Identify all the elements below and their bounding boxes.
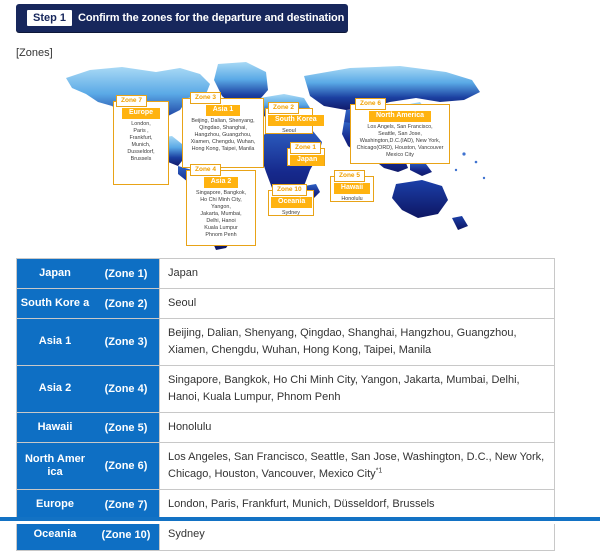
zone-cities-text: Seoul (168, 297, 196, 309)
zone-name-cell: South Kore a (17, 289, 94, 319)
zone-tab-7: Zone 7 (116, 95, 147, 107)
zone-cities-text: London, Paris, Frankfurt, Munich, Düssel… (168, 498, 435, 510)
zone-number-cell: (Zone 10) (93, 520, 160, 550)
zone-cities-note: *1 (376, 468, 383, 475)
zone-callout-europe: Europe London, Paris , Frankfurt, Munich… (113, 101, 169, 185)
zones-table-body: Japan (Zone 1) Japan South Kore a (Zone … (17, 259, 555, 551)
table-row: Asia 2 (Zone 4) Singapore, Bangkok, Ho C… (17, 366, 555, 413)
zone-cities-cell: Beijing, Dalian, Shenyang, Qingdao, Shan… (160, 319, 555, 366)
zone-callout-cities-northamerica: Los Angels, San Francisco, Seattle, San … (353, 124, 447, 160)
zone-cities-text: Los Angeles, San Francisco, Seattle, San… (168, 451, 544, 480)
zone-callout-cities-hawaii: Honolulu (333, 196, 371, 203)
zone-callout-cities-asia1: Beijing, Dalian, Shenyang, Qingdao, Shan… (185, 118, 261, 154)
zone-callout-title-oceania: Oceania (271, 197, 312, 208)
table-row: Oceania (Zone 10) Sydney (17, 520, 555, 550)
step-number-chip: Step 1 (27, 10, 72, 26)
zone-cities-text: Japan (168, 267, 198, 279)
zone-callout-cities-asia2: Singapore, Bangkok, Ho Chi Minh City, Ya… (189, 190, 253, 240)
zone-cities-text: Honolulu (168, 421, 211, 433)
zone-number-cell: (Zone 4) (93, 366, 160, 413)
zone-tab-3: Zone 3 (190, 92, 221, 104)
zone-callout-title-japan: Japan (290, 155, 324, 166)
zone-tab-5: Zone 5 (334, 170, 365, 182)
zone-cities-cell: Sydney (160, 520, 555, 550)
zone-cities-cell: London, Paris, Frankfurt, Munich, Düssel… (160, 490, 555, 520)
zones-table: Japan (Zone 1) Japan South Kore a (Zone … (16, 258, 555, 551)
table-row: North Amer ica (Zone 6) Los Angeles, San… (17, 443, 555, 490)
zone-callout-title-europe: Europe (122, 108, 160, 119)
zone-name-cell: Oceania (17, 520, 94, 550)
zone-callout-title-asia2: Asia 2 (204, 177, 239, 188)
zone-number-cell: (Zone 2) (93, 289, 160, 319)
zone-tab-1: Zone 1 (290, 142, 321, 154)
table-row: Asia 1 (Zone 3) Beijing, Dalian, Shenyan… (17, 319, 555, 366)
zone-number-cell: (Zone 6) (93, 443, 160, 490)
table-row: Europe (Zone 7) London, Paris, Frankfurt… (17, 490, 555, 520)
world-map-region: Zone 7 Europe London, Paris , Frankfurt,… (0, 60, 600, 252)
zone-callout-cities-southkorea: Seoul (268, 128, 310, 135)
table-row: Hawaii (Zone 5) Honolulu (17, 413, 555, 443)
zone-cities-cell: Singapore, Bangkok, Ho Chi Minh City, Ya… (160, 366, 555, 413)
zone-number-cell: (Zone 5) (93, 413, 160, 443)
step-banner: Step 1 Confirm the zones for the departu… (16, 4, 348, 32)
zone-callout-cities-oceania: Sydney (271, 210, 311, 217)
zone-tab-2: Zone 2 (268, 102, 299, 114)
zone-cities-cell: Seoul (160, 289, 555, 319)
zone-callout-title-hawaii: Hawaii (334, 183, 370, 194)
zone-number-cell: (Zone 7) (93, 490, 160, 520)
zone-cities-text: Singapore, Bangkok, Ho Chi Minh City, Ya… (168, 374, 520, 403)
zone-callout-title-asia1: Asia 1 (206, 105, 241, 116)
zone-tab-4: Zone 4 (190, 164, 221, 176)
zone-cities-text: Beijing, Dalian, Shenyang, Qingdao, Shan… (168, 327, 517, 356)
zone-name-cell: Asia 1 (17, 319, 94, 366)
zone-callout-asia2: Asia 2 Singapore, Bangkok, Ho Chi Minh C… (186, 170, 256, 246)
zone-callout-title-southkorea: South Korea (268, 115, 324, 126)
zone-callout-title-northamerica: North America (369, 111, 431, 122)
zone-cities-cell: Los Angeles, San Francisco, Seattle, San… (160, 443, 555, 490)
zone-name-cell: North Amer ica (17, 443, 94, 490)
zone-cities-cell: Japan (160, 259, 555, 289)
zone-name-cell: Asia 2 (17, 366, 94, 413)
zone-number-cell: (Zone 1) (93, 259, 160, 289)
zone-name-cell: Europe (17, 490, 94, 520)
zones-caption: [Zones] (16, 47, 53, 59)
zone-tab-6: Zone 6 (355, 98, 386, 110)
zone-name-cell: Japan (17, 259, 94, 289)
zone-cities-cell: Honolulu (160, 413, 555, 443)
zone-callout-cities-europe: London, Paris , Frankfurt, Munich, Dusse… (116, 121, 166, 164)
step-instruction-text: Confirm the zones for the departure and … (78, 12, 383, 24)
zone-callout-asia1: Asia 1 Beijing, Dalian, Shenyang, Qingda… (182, 98, 264, 168)
zone-name-cell: Hawaii (17, 413, 94, 443)
table-row: South Kore a (Zone 2) Seoul (17, 289, 555, 319)
zone-callout-northamerica: North America Los Angels, San Francisco,… (350, 104, 450, 164)
zone-tab-10: Zone 10 (272, 184, 307, 196)
zone-number-cell: (Zone 3) (93, 319, 160, 366)
table-row: Japan (Zone 1) Japan (17, 259, 555, 289)
zone-cities-text: Sydney (168, 528, 205, 540)
